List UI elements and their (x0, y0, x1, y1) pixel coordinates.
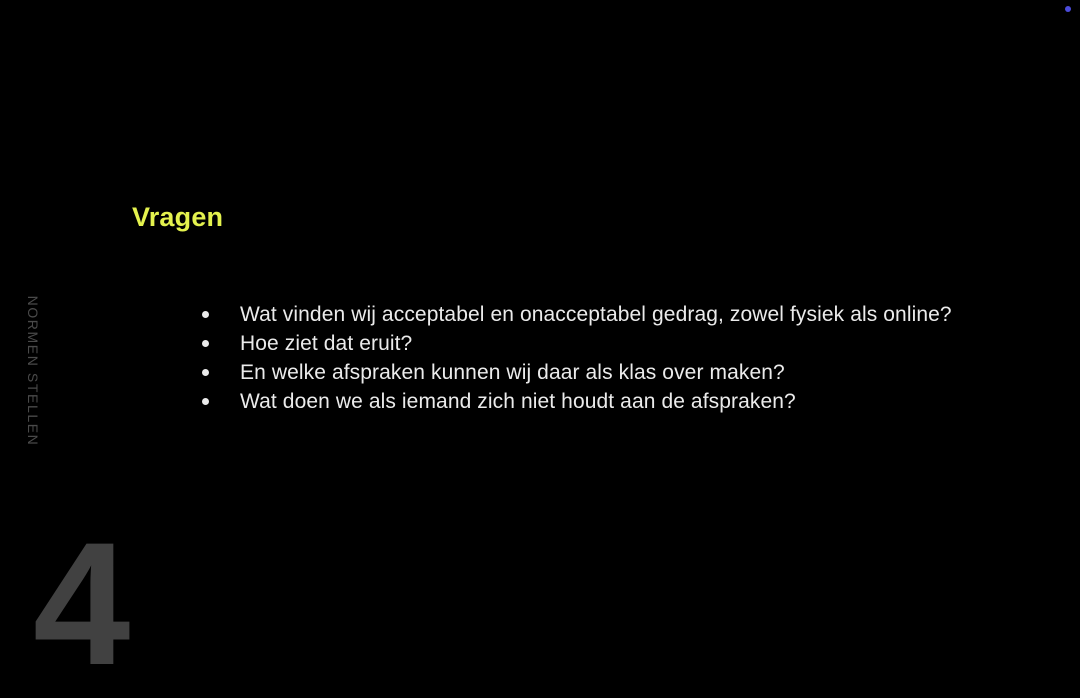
list-item: Wat doen we als iemand zich niet houdt a… (196, 387, 986, 416)
list-item: Wat vinden wij acceptabel en onacceptabe… (196, 300, 986, 329)
accent-dot-icon (1065, 6, 1071, 12)
list-item-label: Wat doen we als iemand zich niet houdt a… (240, 390, 796, 413)
bullet-dot-icon (202, 340, 209, 347)
list-item-label: Wat vinden wij acceptabel en onacceptabe… (240, 303, 952, 326)
chapter-side-label: NORMEN STELLEN (25, 291, 41, 451)
questions-list: Wat vinden wij acceptabel en onacceptabe… (196, 300, 986, 416)
list-item: En welke afspraken kunnen wij daar als k… (196, 358, 986, 387)
page-title: Vragen (132, 202, 223, 233)
presentation-slide: NORMEN STELLEN 4 Vragen Wat vinden wij a… (0, 0, 1080, 698)
list-item-label: En welke afspraken kunnen wij daar als k… (240, 361, 785, 384)
chapter-number: 4 (33, 517, 128, 692)
bullet-dot-icon (202, 369, 209, 376)
list-item-label: Hoe ziet dat eruit? (240, 332, 412, 355)
bullet-dot-icon (202, 398, 209, 405)
list-item: Hoe ziet dat eruit? (196, 329, 986, 358)
bullet-dot-icon (202, 311, 209, 318)
